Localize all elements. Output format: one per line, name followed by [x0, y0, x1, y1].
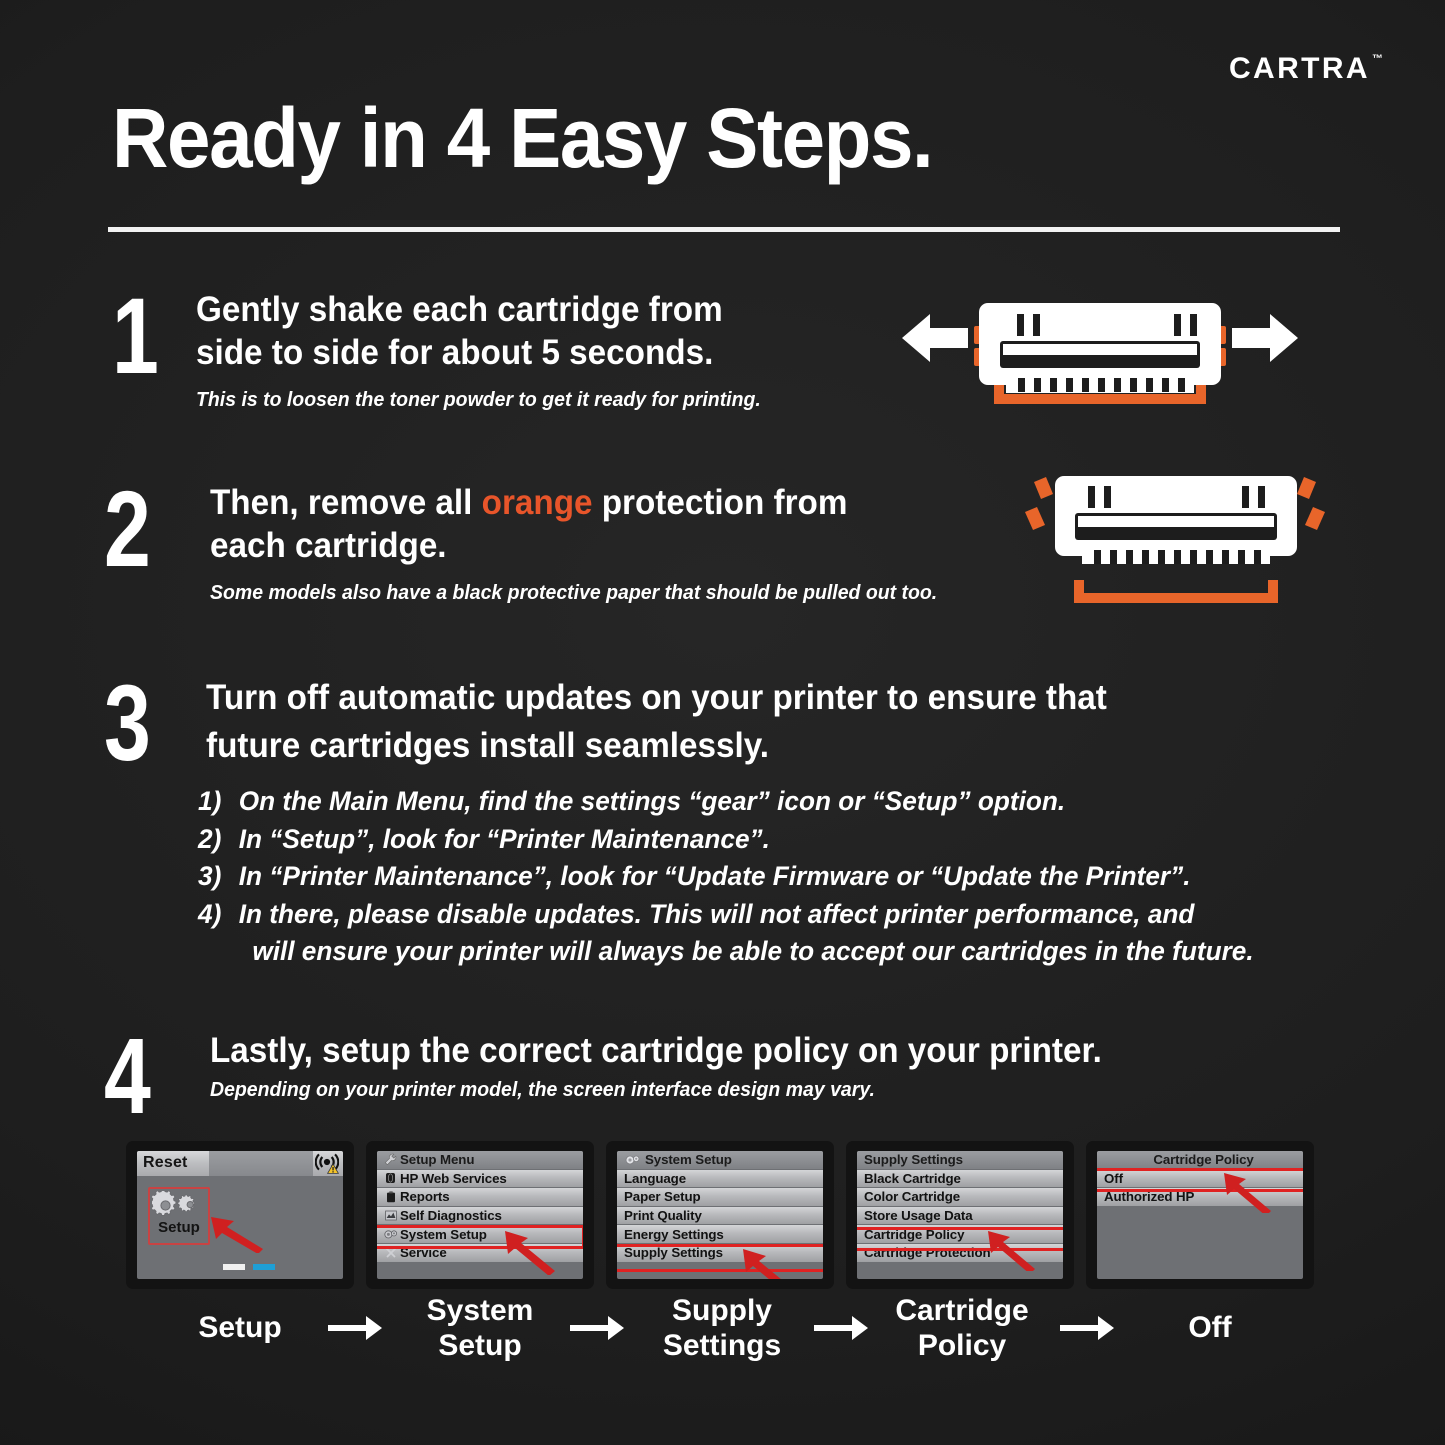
- page-title: Ready in 4 Easy Steps.: [112, 96, 932, 180]
- step-3-heading-line1: Turn off automatic updates on your print…: [206, 676, 1107, 719]
- step-2-heading-pre: Then, remove all: [210, 483, 482, 522]
- screen-content: Setup Menu HP Web Services Reports: [377, 1151, 583, 1279]
- menu-item-system-setup-header: System Setup: [617, 1151, 823, 1170]
- flow-label-line1: Cartridge: [895, 1294, 1028, 1327]
- clipboard-icon: [381, 1191, 400, 1203]
- trademark-symbol: ™: [1372, 53, 1383, 65]
- flow-label-line1: System: [427, 1294, 534, 1327]
- step-2-heading-highlight: orange: [482, 483, 593, 522]
- cartridge-body: [1055, 476, 1297, 564]
- menu-item-cartridge-policy[interactable]: Cartridge Policy: [857, 1225, 1063, 1244]
- wrench-icon: [381, 1153, 400, 1166]
- menu-item-label: Setup Menu: [400, 1152, 474, 1167]
- menu-item-label: System Setup: [400, 1227, 487, 1242]
- step-3-number: 3: [104, 669, 151, 777]
- reset-button[interactable]: Reset: [143, 1154, 188, 1172]
- menu-item-black-cartridge[interactable]: Black Cartridge: [857, 1170, 1063, 1189]
- flow-label-line1: Supply: [672, 1294, 772, 1327]
- flow-label-cartridge-policy: Cartridge Policy: [872, 1293, 1052, 1363]
- menu-item-label: Authorized HP: [1104, 1189, 1194, 1204]
- globe-icon: [381, 1172, 400, 1184]
- menu-item-reports[interactable]: Reports: [377, 1188, 583, 1207]
- step-1-heading-line2: side to side for about 5 seconds.: [196, 331, 713, 374]
- printer-screen-supply-settings[interactable]: Supply Settings Black Cartridge Color Ca…: [846, 1141, 1074, 1289]
- menu-item-cartridge-policy-header: Cartridge Policy: [1097, 1151, 1303, 1170]
- menu-item-authorized-hp[interactable]: Authorized HP: [1097, 1188, 1303, 1207]
- title-divider: [108, 227, 1340, 232]
- orange-bottom-strip-detached: [1074, 580, 1278, 603]
- step-2-number: 2: [104, 475, 151, 583]
- step-4-heading-line1: Lastly, setup the correct cartridge poli…: [210, 1029, 1102, 1072]
- list-item: 4) In there, please disable updates. Thi…: [198, 896, 1343, 971]
- menu-item-language[interactable]: Language: [617, 1170, 823, 1189]
- gears-icon: [381, 1229, 400, 1240]
- menu-item-label: Print Quality: [624, 1208, 702, 1223]
- arrow-right-icon: [326, 1311, 384, 1345]
- flow-label-system-setup: System Setup: [390, 1293, 570, 1363]
- printer-screen-setup[interactable]: Reset: [126, 1141, 354, 1289]
- pointer-arrow-icon: [203, 1213, 267, 1253]
- printer-screens-row: Reset: [0, 1141, 1445, 1289]
- cartridge-body: [979, 303, 1221, 393]
- orange-piece-detached-right-lower: [1305, 507, 1325, 530]
- flow-label-line2: Policy: [918, 1329, 1006, 1362]
- flow-label-supply-settings: Supply Settings: [632, 1293, 812, 1363]
- flow-labels-row: Setup System Setup Supply Settings Cartr…: [0, 1292, 1445, 1402]
- step-2-heading-post: protection from: [593, 483, 848, 522]
- list-item: 1) On the Main Menu, find the settings “…: [198, 783, 1343, 821]
- page-indicator-dot[interactable]: [253, 1264, 275, 1270]
- printer-screen-system-setup[interactable]: System Setup Language Paper Setup Print …: [606, 1141, 834, 1289]
- screen-content: Supply Settings Black Cartridge Color Ca…: [857, 1151, 1063, 1279]
- wifi-warning-icon: [315, 1153, 339, 1174]
- menu-item-label: Cartridge Policy: [1104, 1152, 1303, 1167]
- menu-item-setup-menu[interactable]: Setup Menu: [377, 1151, 583, 1170]
- screen-content: Reset: [137, 1151, 343, 1279]
- menu-item-label: HP Web Services: [400, 1171, 507, 1186]
- menu-item-label: Supply Settings: [864, 1152, 963, 1167]
- step-2-cartridge-illustration: [1016, 472, 1334, 608]
- step-2-subtext: Some models also have a black protective…: [210, 580, 937, 606]
- menu-item-label: Paper Setup: [624, 1189, 701, 1204]
- step-1-subtext: This is to loosen the toner powder to ge…: [196, 387, 761, 413]
- list-item-text: In there, please disable updates. This w…: [239, 899, 1195, 929]
- menu-item-supply-settings-header: Supply Settings: [857, 1151, 1063, 1170]
- arrow-left-icon: [902, 314, 968, 362]
- step-3-instruction-list: 1) On the Main Menu, find the settings “…: [198, 783, 1343, 971]
- menu-item-color-cartridge[interactable]: Color Cartridge: [857, 1188, 1063, 1207]
- menu-item-label: Store Usage Data: [864, 1208, 973, 1223]
- menu-list: System Setup Language Paper Setup Print …: [617, 1151, 823, 1263]
- menu-item-cartridge-protection[interactable]: Cartridge Protection: [857, 1244, 1063, 1263]
- flow-label-off: Off: [1120, 1310, 1300, 1345]
- step-2-heading-line1: Then, remove all orange protection from: [210, 481, 847, 524]
- brand-logo: CARTRA™: [1229, 52, 1383, 86]
- menu-item-print-quality[interactable]: Print Quality: [617, 1207, 823, 1226]
- brand-name: CARTRA: [1229, 52, 1370, 86]
- list-item-text: On the Main Menu, find the settings “gea…: [239, 783, 1343, 821]
- menu-list: Setup Menu HP Web Services Reports: [377, 1151, 583, 1263]
- list-item-marker: 4): [198, 896, 239, 971]
- menu-item-store-usage-data[interactable]: Store Usage Data: [857, 1207, 1063, 1226]
- step-4-number: 4: [104, 1022, 151, 1130]
- list-item-marker: 2): [198, 821, 239, 859]
- list-item-text: In “Printer Maintenance”, look for “Upda…: [239, 858, 1343, 896]
- menu-item-energy-settings[interactable]: Energy Settings: [617, 1225, 823, 1244]
- menu-item-label: Reports: [400, 1189, 450, 1204]
- menu-list: Supply Settings Black Cartridge Color Ca…: [857, 1151, 1063, 1263]
- menu-item-label: Supply Settings: [624, 1245, 723, 1260]
- menu-item-label: Color Cartridge: [864, 1189, 960, 1204]
- flow-label-line2: Setup: [438, 1329, 521, 1362]
- flow-label-setup: Setup: [150, 1310, 330, 1345]
- menu-list: Cartridge Policy Off Authorized HP: [1097, 1151, 1303, 1207]
- infographic-page: CARTRA™ Ready in 4 Easy Steps. 1 Gently …: [0, 0, 1445, 1445]
- menu-item-label: Language: [624, 1171, 686, 1186]
- list-item-marker: 1): [198, 783, 239, 821]
- step-2-heading-line2: each cartridge.: [210, 524, 447, 567]
- status-bar-fill: [209, 1151, 313, 1176]
- setup-tile-label[interactable]: Setup: [149, 1219, 209, 1236]
- step-1-number: 1: [112, 282, 159, 390]
- menu-item-system-setup[interactable]: System Setup: [377, 1225, 583, 1244]
- menu-item-off[interactable]: Off: [1097, 1170, 1303, 1189]
- flow-label-line2: Settings: [663, 1329, 781, 1362]
- gears-icon: [152, 1191, 206, 1219]
- orange-piece-detached-left-upper: [1034, 477, 1053, 499]
- screen-content: Cartridge Policy Off Authorized HP: [1097, 1151, 1303, 1279]
- menu-item-label: System Setup: [645, 1152, 732, 1167]
- step-3-heading-line2: future cartridges install seamlessly.: [206, 724, 769, 767]
- menu-item-label: Cartridge Protection: [864, 1245, 991, 1260]
- list-item-marker: 3): [198, 858, 239, 896]
- arrow-right-icon: [568, 1311, 626, 1345]
- orange-piece-detached-right-upper: [1297, 477, 1316, 499]
- menu-item-label: Energy Settings: [624, 1227, 724, 1242]
- page-indicator-dot-active[interactable]: [223, 1264, 245, 1270]
- arrow-right-icon: [1058, 1311, 1116, 1345]
- tools-icon: [381, 1247, 400, 1259]
- menu-item-label: Self Diagnostics: [400, 1208, 502, 1223]
- list-item-text-continued: will ensure your printer will always be …: [239, 933, 1343, 971]
- list-item: 3) In “Printer Maintenance”, look for “U…: [198, 858, 1343, 896]
- list-item-text: In “Setup”, look for “Printer Maintenanc…: [239, 821, 1343, 859]
- menu-item-paper-setup[interactable]: Paper Setup: [617, 1188, 823, 1207]
- step-1-cartridge-illustration: [890, 292, 1310, 412]
- list-item: 2) In “Setup”, look for “Printer Mainten…: [198, 821, 1343, 859]
- printer-screen-cartridge-policy[interactable]: Cartridge Policy Off Authorized HP: [1086, 1141, 1314, 1289]
- menu-item-hp-web-services[interactable]: HP Web Services: [377, 1170, 583, 1189]
- menu-item-label: Black Cartridge: [864, 1171, 961, 1186]
- menu-item-service[interactable]: Service: [377, 1244, 583, 1263]
- printer-screen-setup-menu[interactable]: Setup Menu HP Web Services Reports: [366, 1141, 594, 1289]
- menu-item-label: Cartridge Policy: [864, 1227, 964, 1242]
- menu-item-self-diagnostics[interactable]: Self Diagnostics: [377, 1207, 583, 1226]
- menu-item-supply-settings[interactable]: Supply Settings: [617, 1244, 823, 1263]
- chart-icon: [381, 1210, 400, 1221]
- orange-piece-detached-left-lower: [1025, 507, 1045, 530]
- arrow-right-icon: [812, 1311, 870, 1345]
- arrow-right-icon: [1232, 314, 1298, 362]
- gears-icon: [621, 1154, 645, 1166]
- step-1-heading-line1: Gently shake each cartridge from: [196, 288, 723, 331]
- menu-item-label: Service: [400, 1245, 447, 1260]
- screen-content: System Setup Language Paper Setup Print …: [617, 1151, 823, 1279]
- step-4-subtext: Depending on your printer model, the scr…: [210, 1077, 875, 1103]
- menu-item-label: Off: [1104, 1171, 1123, 1186]
